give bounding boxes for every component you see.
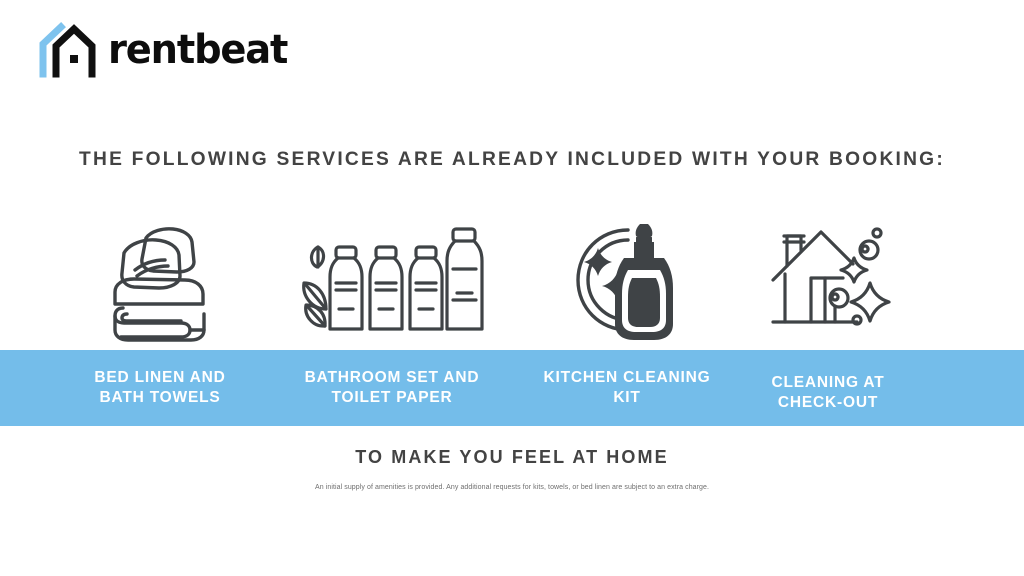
service-icon-cleaning-checkout: [733, 212, 923, 350]
service-icon-row: [0, 212, 1024, 350]
service-label-line1: BATHROOM SET AND: [277, 368, 507, 388]
service-label-line2: KIT: [512, 388, 742, 408]
page-title: THE FOLLOWING SERVICES ARE ALREADY INCLU…: [8, 148, 1017, 171]
service-label-cleaning-checkout: CLEANING AT CHECK-OUT: [713, 373, 943, 414]
service-label-line1: CLEANING AT: [713, 373, 943, 393]
services-band: BED LINEN AND BATH TOWELS BATHROOM SET A…: [0, 350, 1024, 426]
service-label-line2: TOILET PAPER: [277, 388, 507, 408]
service-label-line2: CHECK-OUT: [713, 393, 943, 413]
brand-wordmark: rentbeat: [108, 30, 287, 70]
slide-canvas: rentbeat THE FOLLOWING SERVICES ARE ALRE…: [0, 0, 1024, 576]
service-icon-bed-linen: [65, 212, 255, 350]
footer-disclaimer: An initial supply of amenities is provid…: [0, 484, 1024, 491]
brand-logo[interactable]: rentbeat: [36, 22, 295, 78]
service-label-line1: BED LINEN AND: [45, 368, 275, 388]
service-icon-bathroom-set: [297, 212, 487, 350]
service-label-bed-linen: BED LINEN AND BATH TOWELS: [45, 368, 275, 409]
service-label-line1: KITCHEN CLEANING: [512, 368, 742, 388]
house-logo-icon: [36, 22, 98, 78]
service-icon-kitchen-kit: [532, 212, 722, 350]
footer-tagline: TO MAKE YOU FEEL AT HOME: [0, 447, 1024, 468]
service-label-kitchen-kit: KITCHEN CLEANING KIT: [512, 368, 742, 409]
service-label-line2: BATH TOWELS: [45, 388, 275, 408]
service-label-bathroom-set: BATHROOM SET AND TOILET PAPER: [277, 368, 507, 409]
